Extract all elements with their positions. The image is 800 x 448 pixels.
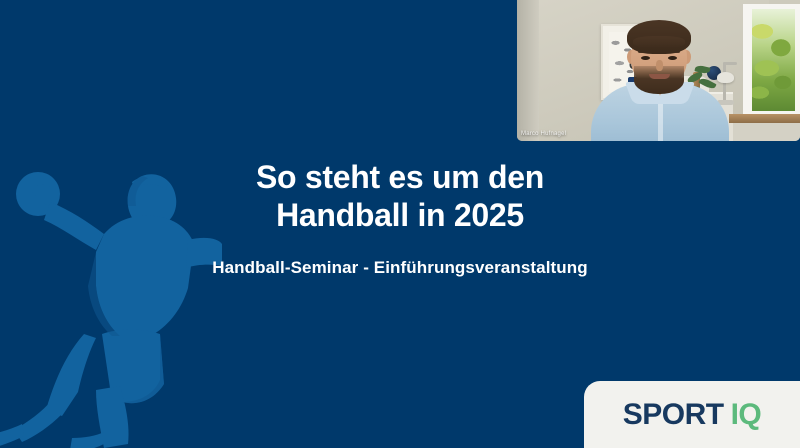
title-line-2: Handball in 2025 [0,196,800,234]
person-eye-left [641,56,650,60]
webcam-scene: 5 [517,0,800,141]
presentation-slide: So steht es um den Handball in 2025 Hand… [0,0,800,448]
presenter-person [585,12,735,141]
person-mouth [649,74,670,79]
slide-subtitle: Handball-Seminar - Einführungsveranstalt… [0,258,800,278]
brand-wordmark-iq: IQ [731,398,762,431]
webcam-name-label: Marco Hufnagel [521,131,566,137]
window-mullion [748,9,795,111]
person-nose [656,60,663,71]
person-eye-right [668,56,677,60]
page-title: So steht es um den Handball in 2025 [0,158,800,234]
person-hair [627,20,691,54]
title-line-1: So steht es um den [0,158,800,196]
window-sill [729,114,800,123]
brand-wordmark: SPORTIQ [623,400,762,430]
under-sill [733,123,800,141]
window [743,4,800,116]
wall-left [517,0,539,141]
brand-wordmark-sport: SPORT [623,398,724,431]
brand-logo-panel: SPORTIQ [584,381,800,448]
webcam-video-tile[interactable]: 5 [517,0,800,141]
